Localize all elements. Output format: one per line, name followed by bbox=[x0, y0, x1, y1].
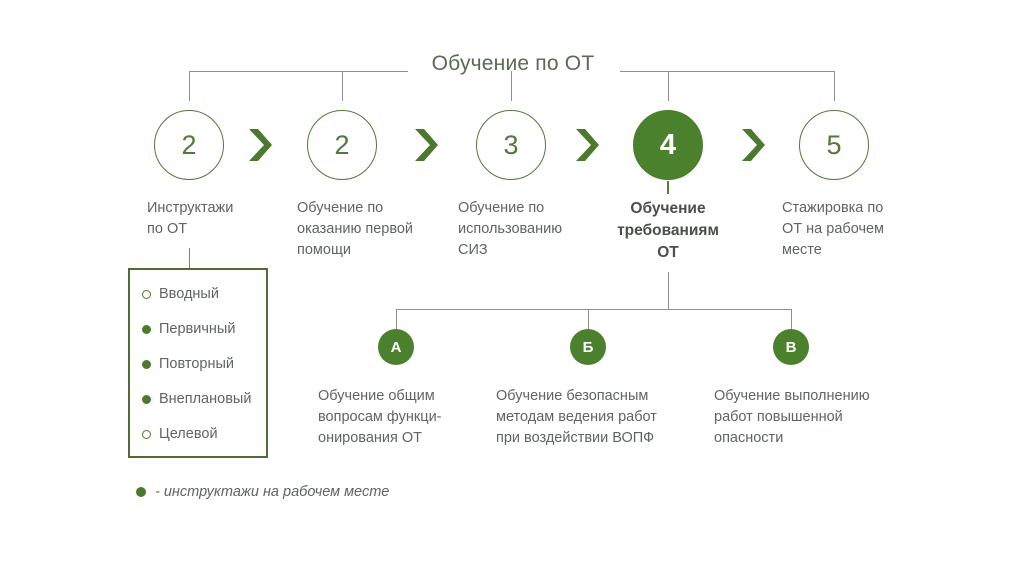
legend-item-1-label: Вводный bbox=[159, 286, 219, 302]
step-caption-4-line-3: ОТ bbox=[588, 242, 748, 264]
filled-dot-icon bbox=[136, 487, 146, 497]
step-caption-1: Инструктажи по ОТ bbox=[147, 198, 233, 240]
step-caption-2-line-2: оказанию первой bbox=[297, 219, 413, 240]
sub-caption-v-line-3: опасности bbox=[714, 428, 870, 449]
step-caption-1-line-2: по ОТ bbox=[147, 219, 233, 240]
sub-circle-b[interactable]: Б bbox=[570, 329, 606, 365]
sub-caption-a-line-3: онирования ОТ bbox=[318, 428, 442, 449]
step-caption-3: Обучение по использованию СИЗ bbox=[458, 198, 562, 261]
sub-bracket-line bbox=[396, 309, 792, 310]
step-number-1: 2 bbox=[181, 130, 196, 161]
top-bracket-drop-2 bbox=[342, 71, 343, 101]
legend-connector-line bbox=[189, 248, 190, 268]
legend-item-3-label: Повторный bbox=[159, 356, 234, 372]
step-caption-5: Стажировка по ОТ на рабочем месте bbox=[782, 198, 884, 261]
sub-circle-v-letter: В bbox=[786, 339, 797, 356]
step-caption-3-line-2: использованию bbox=[458, 219, 562, 240]
step-caption-2: Обучение по оказанию первой помощи bbox=[297, 198, 413, 261]
hollow-dot-icon bbox=[142, 290, 151, 299]
top-bracket-drop-5 bbox=[834, 71, 835, 101]
sub-circle-a[interactable]: А bbox=[378, 329, 414, 365]
chevron-right-icon-3 bbox=[573, 128, 599, 162]
step-caption-5-line-1: Стажировка по bbox=[782, 198, 884, 219]
sub-caption-a-line-2: вопросам функци- bbox=[318, 407, 442, 428]
page-title: Обучение по ОТ bbox=[408, 52, 618, 76]
legend-item-5-label: Целевой bbox=[159, 426, 218, 442]
legend-item-4-label: Внеплановый bbox=[159, 391, 251, 407]
legend-item-1[interactable]: Вводный bbox=[142, 286, 219, 302]
step-caption-2-line-3: помощи bbox=[297, 240, 413, 261]
filled-dot-icon bbox=[142, 395, 151, 404]
chevron-right-icon-2 bbox=[412, 128, 438, 162]
sub-bracket-drop-b bbox=[588, 309, 589, 329]
step-number-3: 3 bbox=[503, 130, 518, 161]
sub-circle-b-letter: Б bbox=[583, 339, 594, 356]
legend-item-2[interactable]: Первичный bbox=[142, 321, 235, 337]
sub-caption-v-line-1: Обучение выполнению bbox=[714, 386, 870, 407]
step-caption-5-line-2: ОТ на рабочем bbox=[782, 219, 884, 240]
footnote: - инструктажи на рабочем месте bbox=[136, 484, 389, 500]
top-bracket-drop-4 bbox=[668, 71, 669, 101]
top-bracket-right-line bbox=[620, 71, 835, 72]
footnote-text: - инструктажи на рабочем месте bbox=[155, 484, 389, 500]
step-caption-4: Обучение требованиям ОТ bbox=[588, 198, 748, 264]
step-circle-1[interactable]: 2 bbox=[154, 110, 224, 180]
step-caption-5-line-3: месте bbox=[782, 240, 884, 261]
instruction-types-box: Вводный Первичный Повторный Внеплановый … bbox=[128, 268, 268, 458]
step-circle-2[interactable]: 2 bbox=[307, 110, 377, 180]
sub-caption-b-line-1: Обучение безопасным bbox=[496, 386, 657, 407]
step-caption-1-line-1: Инструктажи bbox=[147, 198, 233, 219]
sub-circle-a-letter: А bbox=[391, 339, 402, 356]
step-caption-4-line-1: Обучение bbox=[588, 198, 748, 220]
sub-caption-b-line-2: методам ведения работ bbox=[496, 407, 657, 428]
step-4-connector-bottom bbox=[668, 272, 669, 309]
step-4-connector-top bbox=[667, 181, 669, 194]
sub-caption-b: Обучение безопасным методам ведения рабо… bbox=[496, 386, 657, 449]
sub-circle-v[interactable]: В bbox=[773, 329, 809, 365]
sub-caption-b-line-3: при воздействии ВОПФ bbox=[496, 428, 657, 449]
legend-item-4[interactable]: Внеплановый bbox=[142, 391, 251, 407]
legend-item-5[interactable]: Целевой bbox=[142, 426, 218, 442]
diagram-canvas: Обучение по ОТ 2 2 3 4 5 Инструктажи bbox=[0, 0, 1024, 574]
hollow-dot-icon bbox=[142, 430, 151, 439]
sub-caption-a-line-1: Обучение общим bbox=[318, 386, 442, 407]
sub-caption-v-line-2: работ повышенной bbox=[714, 407, 870, 428]
legend-item-2-label: Первичный bbox=[159, 321, 235, 337]
chevron-right-icon-4 bbox=[739, 128, 765, 162]
step-number-4: 4 bbox=[660, 129, 676, 162]
sub-caption-v: Обучение выполнению работ повышенной опа… bbox=[714, 386, 870, 449]
step-circle-3[interactable]: 3 bbox=[476, 110, 546, 180]
filled-dot-icon bbox=[142, 360, 151, 369]
step-caption-2-line-1: Обучение по bbox=[297, 198, 413, 219]
sub-bracket-drop-a bbox=[396, 309, 397, 329]
chevron-right-icon-1 bbox=[246, 128, 272, 162]
step-caption-3-line-3: СИЗ bbox=[458, 240, 562, 261]
step-circle-4[interactable]: 4 bbox=[633, 110, 703, 180]
step-caption-4-line-2: требованиям bbox=[588, 220, 748, 242]
step-caption-3-line-1: Обучение по bbox=[458, 198, 562, 219]
step-number-2: 2 bbox=[334, 130, 349, 161]
top-bracket-drop-1 bbox=[189, 71, 190, 101]
filled-dot-icon bbox=[142, 325, 151, 334]
sub-caption-a: Обучение общим вопросам функци- онирован… bbox=[318, 386, 442, 449]
step-circle-5[interactable]: 5 bbox=[799, 110, 869, 180]
sub-bracket-drop-v bbox=[791, 309, 792, 329]
top-bracket-left-line bbox=[189, 71, 408, 72]
step-number-5: 5 bbox=[826, 130, 841, 161]
legend-item-3[interactable]: Повторный bbox=[142, 356, 234, 372]
